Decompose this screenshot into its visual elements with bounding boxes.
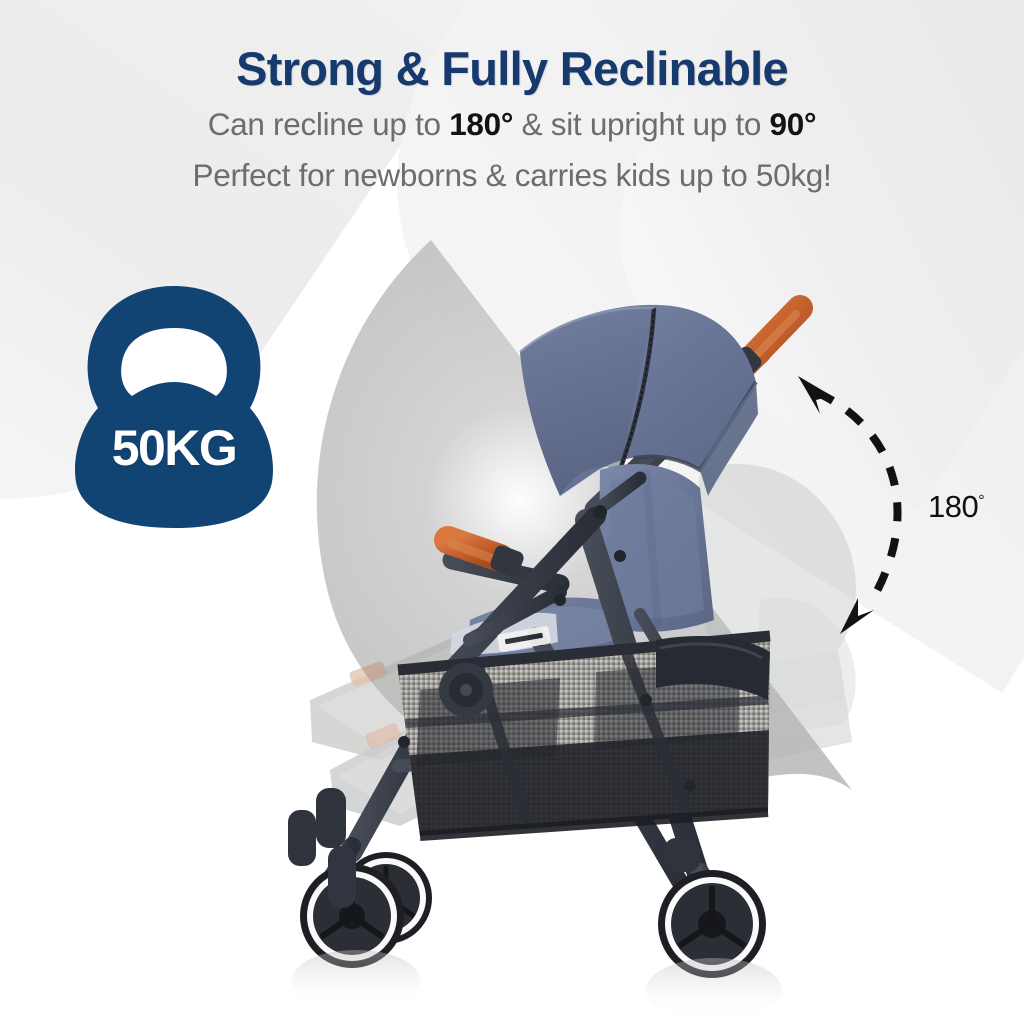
frame-hub-joint — [439, 663, 493, 717]
badge-weight-label: 50KG — [68, 419, 280, 477]
subtitle-line-1: Can recline up to 180° & sit upright up … — [0, 104, 1024, 146]
page-title: Strong & Fully Reclinable — [0, 44, 1024, 94]
angle-value: 180 — [928, 489, 978, 524]
angle-label: 180° — [928, 489, 984, 525]
subtitle-part-1: Can recline up to — [208, 106, 450, 142]
subtitle-line-2: Perfect for newborns & carries kids up t… — [0, 155, 1024, 197]
subtitle-bold-90: 90° — [770, 106, 817, 142]
product-feature-banner: Strong & Fully Reclinable Can recline up… — [0, 0, 1024, 1024]
weight-capacity-badge: 50KG — [68, 282, 280, 530]
arrowhead-up-icon — [798, 376, 832, 414]
subtitle-bold-180: 180° — [449, 106, 513, 142]
arrowhead-down-icon — [840, 598, 874, 634]
ground-reflection — [292, 950, 782, 1022]
subtitle-part-2: & sit upright up to — [513, 106, 769, 142]
kettlebell-icon — [68, 282, 280, 530]
header-block: Strong & Fully Reclinable Can recline up… — [0, 0, 1024, 197]
rear-wheel-assembly — [658, 838, 766, 978]
recline-angle-arc — [780, 352, 940, 652]
bumper-bar-grip-tan — [448, 540, 500, 560]
degree-symbol: ° — [978, 493, 984, 510]
storage-basket — [390, 630, 780, 845]
